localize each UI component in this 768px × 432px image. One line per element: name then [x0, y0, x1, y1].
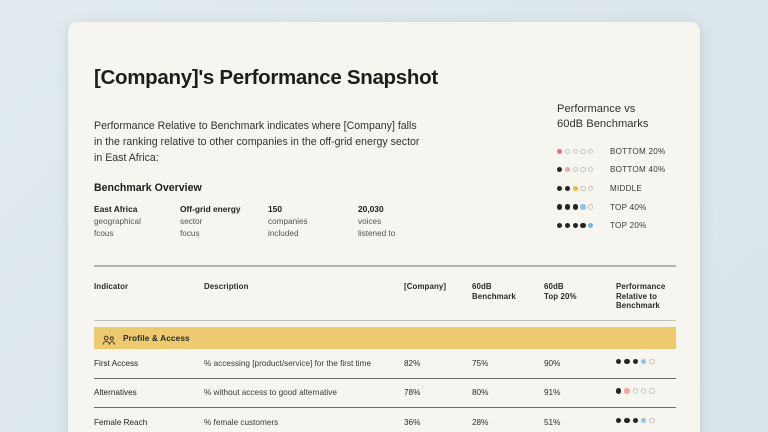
cell-benchmark-value: 75% [472, 359, 544, 369]
cell-top20-value: 91% [544, 388, 616, 398]
cell-performance-rating [616, 418, 676, 423]
header-rule [94, 320, 676, 322]
cell-top20-value: 90% [544, 359, 616, 369]
rating-dots [557, 186, 601, 191]
cell-description: % accessing [product/service] for the fi… [204, 359, 404, 369]
cell-top20-value: 51% [544, 418, 616, 428]
stat-value: 20,030 [358, 204, 448, 216]
legend-title-line-2: 60dB Benchmarks [557, 118, 648, 130]
rating-dot-empty [580, 149, 585, 154]
legend-item-label: TOP 20% [610, 221, 647, 230]
col-perf-line-1: Performance [616, 282, 665, 291]
rating-dot-filled [616, 388, 621, 393]
rating-dot-accent [557, 149, 562, 154]
rating-dot-empty [588, 204, 593, 209]
benchmark-stat: 150 companies included [268, 204, 358, 239]
stat-line-2: fcous [94, 229, 114, 238]
cell-performance-rating [616, 388, 676, 393]
section-header-profile-access: Profile & Access [94, 327, 676, 349]
rating-dot-accent [624, 388, 629, 393]
intro-paragraph: Performance Relative to Benchmark indica… [94, 118, 424, 167]
rating-dot-filled [557, 186, 562, 191]
performance-legend: Performance vs 60dB Benchmarks BOTTOM 20… [557, 102, 700, 235]
benchmark-stats: East Africa geographical fcous Off-grid … [94, 204, 454, 239]
table-row: Female Reach% female customers36%28%51% [94, 408, 676, 432]
performance-table: Indicator Description [Company] 60dB Ben… [94, 272, 676, 432]
legend-item-label: BOTTOM 20% [610, 147, 665, 156]
legend-item: MIDDLE [557, 179, 700, 198]
rating-dots [557, 167, 601, 172]
rating-dot-accent [565, 167, 570, 172]
rating-dot-filled [557, 223, 562, 228]
rating-dot-empty [580, 167, 585, 172]
cell-indicator: Alternatives [94, 388, 204, 398]
rating-dot-accent [588, 223, 593, 228]
col-perf-line-3: Benchmark [616, 301, 660, 310]
benchmark-stat: 20,030 voices listened to [358, 204, 448, 239]
legend-item-label: BOTTOM 40% [610, 165, 665, 174]
col-top20-line-2: Top 20% [544, 292, 577, 301]
table-body: First Access% accessing [product/service… [94, 349, 676, 432]
stat-line-2: listened to [358, 229, 395, 238]
legend-item: BOTTOM 40% [557, 161, 700, 180]
cell-company-value: 78% [404, 388, 472, 398]
report-card: [Company]'s Performance Snapshot Perform… [68, 22, 700, 432]
benchmark-overview-heading: Benchmark Overview [94, 182, 202, 194]
cell-description: % female customers [204, 418, 404, 428]
legend-item-label: MIDDLE [610, 184, 642, 193]
rating-dot-empty [588, 186, 593, 191]
rating-dots [616, 359, 676, 364]
column-header-benchmark: 60dB Benchmark [472, 282, 544, 301]
rating-dot-accent [573, 186, 578, 191]
rating-dot-filled [565, 223, 570, 228]
column-header-indicator: Indicator [94, 282, 204, 292]
stat-line-1: geographical [94, 217, 141, 226]
cell-company-value: 82% [404, 359, 472, 369]
rating-dots [557, 149, 601, 154]
table-row: First Access% accessing [product/service… [94, 349, 676, 379]
column-header-top20: 60dB Top 20% [544, 282, 616, 301]
rating-dot-filled [565, 204, 570, 209]
legend-title-line-1: Performance vs [557, 103, 635, 115]
rating-dot-filled [573, 223, 578, 228]
rating-dot-filled [633, 418, 638, 423]
page-title: [Company]'s Performance Snapshot [94, 66, 438, 90]
rating-dot-accent [641, 359, 646, 364]
rating-dots [557, 223, 601, 228]
stat-value: 150 [268, 204, 358, 216]
rating-dot-empty [649, 418, 654, 423]
cell-benchmark-value: 28% [472, 418, 544, 428]
rating-dot-empty [649, 359, 654, 364]
rating-dot-empty [588, 149, 593, 154]
cell-description: % without access to good alternative [204, 388, 404, 398]
legend-item: TOP 40% [557, 198, 700, 217]
cell-indicator: Female Reach [94, 418, 204, 428]
col-benchmark-line-2: Benchmark [472, 292, 516, 301]
rating-dot-empty [641, 388, 646, 393]
rating-dot-filled [580, 223, 585, 228]
rating-dot-filled [557, 167, 562, 172]
table-row: Alternatives% without access to good alt… [94, 379, 676, 409]
legend-item-label: TOP 40% [610, 203, 647, 212]
stat-line-1: sector [180, 217, 202, 226]
rating-dot-empty [633, 388, 638, 393]
cell-performance-rating [616, 359, 676, 364]
rating-dot-empty [565, 149, 570, 154]
table-header: Indicator Description [Company] 60dB Ben… [94, 272, 676, 321]
rating-dot-filled [557, 204, 562, 209]
cell-benchmark-value: 80% [472, 388, 544, 398]
rating-dot-filled [616, 359, 621, 364]
stat-line-1: voices [358, 217, 381, 226]
column-header-description: Description [204, 282, 404, 292]
stat-value: Off-grid energy [180, 204, 268, 216]
rating-dots [616, 418, 676, 423]
stat-line-2: focus [180, 229, 200, 238]
people-group-icon [102, 333, 116, 344]
col-top20-line-1: 60dB [544, 282, 564, 291]
rating-dot-filled [624, 359, 629, 364]
rating-dot-empty [580, 186, 585, 191]
legend-item: BOTTOM 20% [557, 142, 700, 161]
rating-dot-empty [649, 388, 654, 393]
rating-dots [616, 388, 676, 393]
section-divider [94, 265, 676, 267]
rating-dot-filled [565, 186, 570, 191]
legend-title: Performance vs 60dB Benchmarks [557, 102, 700, 131]
column-header-performance: Performance Relative to Benchmark [616, 282, 676, 311]
page-background: [Company]'s Performance Snapshot Perform… [0, 0, 768, 432]
cell-indicator: First Access [94, 359, 204, 369]
section-label: Profile & Access [123, 333, 190, 343]
rating-dot-filled [616, 418, 621, 423]
stat-line-2: included [268, 229, 299, 238]
rating-dot-filled [633, 359, 638, 364]
benchmark-stat: Off-grid energy sector focus [180, 204, 268, 239]
stat-value: East Africa [94, 204, 180, 216]
cell-company-value: 36% [404, 418, 472, 428]
rating-dots [557, 204, 601, 209]
rating-dot-accent [641, 418, 646, 423]
rating-dot-empty [588, 167, 593, 172]
col-perf-line-2: Relative to [616, 292, 657, 301]
rating-dot-filled [573, 204, 578, 209]
rating-dot-filled [624, 418, 629, 423]
stat-line-1: companies [268, 217, 308, 226]
legend-item: TOP 20% [557, 216, 700, 235]
rating-dot-accent [580, 204, 585, 209]
benchmark-stat: East Africa geographical fcous [94, 204, 180, 239]
column-header-company: [Company] [404, 282, 472, 292]
rating-dot-empty [573, 149, 578, 154]
rating-dot-empty [573, 167, 578, 172]
col-benchmark-line-1: 60dB [472, 282, 492, 291]
